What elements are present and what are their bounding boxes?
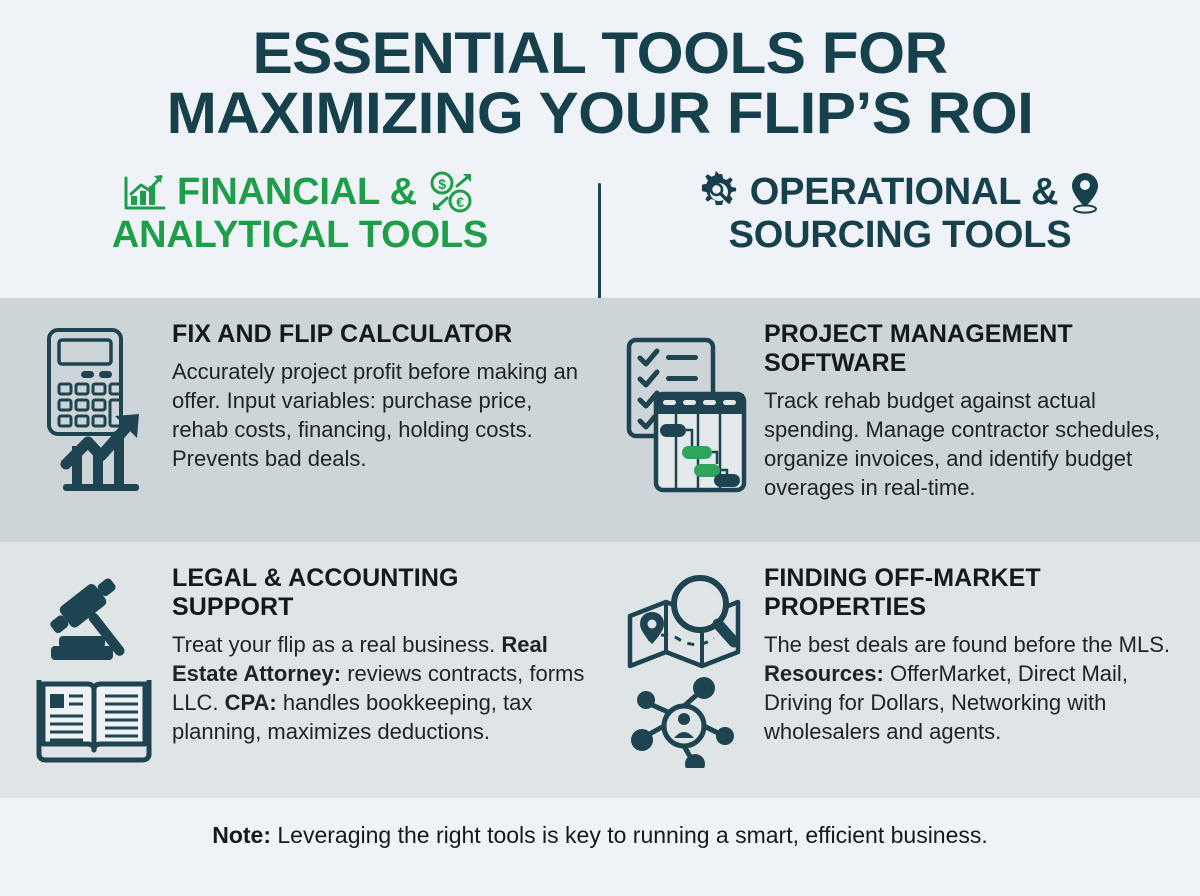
card-title: LEGAL & ACCOUNTING SUPPORT (172, 564, 586, 622)
gavel-book-icon (30, 560, 158, 788)
card-finding-off-market-properties: FINDING OFF-MARKET PROPERTIES The best d… (600, 542, 1200, 798)
map-magnifier-network-icon (622, 560, 750, 788)
financial-header-line-2: ANALYTICAL TOOLS (112, 214, 488, 256)
card-text-block: FINDING OFF-MARKET PROPERTIES The best d… (764, 560, 1186, 788)
card-text-block: LEGAL & ACCOUNTING SUPPORT Treat your fl… (172, 560, 586, 788)
infographic-page: ESSENTIAL TOOLS FOR MAXIMIZING YOUR FLIP… (0, 0, 1200, 896)
title-line-1: ESSENTIAL TOOLS FOR (0, 24, 1200, 84)
location-pin-icon (1068, 170, 1102, 214)
currency-exchange-icon: $ € (427, 170, 477, 214)
financial-header-line-1: FINANCIAL & $ € (112, 170, 488, 214)
checklist-gantt-board-icon (622, 316, 750, 532)
svg-text:$: $ (438, 176, 446, 192)
content-row-1: FIX AND FLIP CALCULATOR Accurately proje… (0, 298, 1200, 542)
svg-text:€: € (456, 194, 464, 210)
calculator-growth-icon (30, 316, 158, 532)
content-row-2: LEGAL & ACCOUNTING SUPPORT Treat your fl… (0, 542, 1200, 798)
card-title: FINDING OFF-MARKET PROPERTIES (764, 564, 1186, 622)
operational-header-line-1: OPERATIONAL & (698, 170, 1102, 214)
financial-header-text-1: FINANCIAL & (177, 171, 417, 213)
operational-header-line-2: SOURCING TOOLS (698, 214, 1102, 256)
footer-note: Note: Leveraging the right tools is key … (0, 820, 1200, 850)
card-text-block: PROJECT MANAGEMENT SOFTWARE Track rehab … (764, 316, 1186, 532)
gear-magnifier-icon (698, 171, 740, 213)
card-fix-and-flip-calculator: FIX AND FLIP CALCULATOR Accurately proje… (0, 298, 600, 542)
card-title: PROJECT MANAGEMENT SOFTWARE (764, 320, 1186, 378)
card-text-block: FIX AND FLIP CALCULATOR Accurately proje… (172, 316, 586, 532)
card-title: FIX AND FLIP CALCULATOR (172, 320, 586, 349)
section-header-operational: OPERATIONAL & SOURCING TOOLS (600, 170, 1200, 298)
card-body: Treat your flip as a real business. Real… (172, 630, 586, 746)
card-legal-and-accounting-support: LEGAL & ACCOUNTING SUPPORT Treat your fl… (0, 542, 600, 798)
footer-note-text: Leveraging the right tools is key to run… (271, 822, 988, 848)
operational-header-text-1: OPERATIONAL & (750, 171, 1058, 213)
page-title: ESSENTIAL TOOLS FOR MAXIMIZING YOUR FLIP… (0, 0, 1200, 144)
card-body: The best deals are found before the MLS.… (764, 630, 1186, 746)
growth-bar-chart-icon (123, 172, 167, 212)
card-body: Track rehab budget against actual spendi… (764, 386, 1186, 502)
section-header-financial: FINANCIAL & $ € A (0, 170, 600, 298)
title-line-2: MAXIMIZING YOUR FLIP’S ROI (0, 84, 1200, 144)
card-body: Accurately project profit before making … (172, 357, 586, 473)
card-project-management-software: PROJECT MANAGEMENT SOFTWARE Track rehab … (600, 298, 1200, 542)
footer-note-label: Note: (212, 822, 271, 848)
